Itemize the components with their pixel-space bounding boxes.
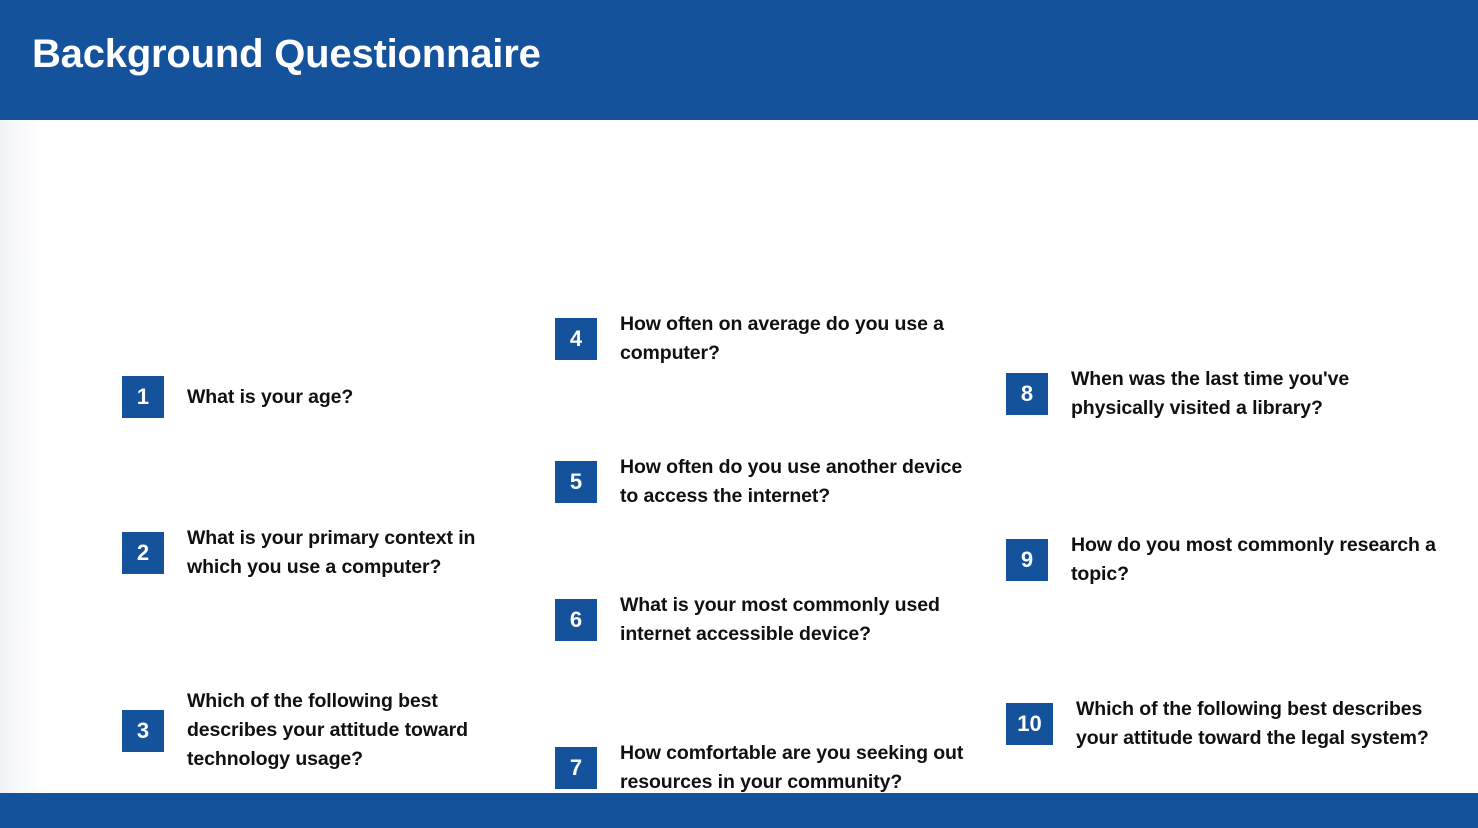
question-number-badge-9: 9 [1006, 539, 1048, 581]
question-number-badge-8: 8 [1006, 373, 1048, 415]
question-text-1: What is your age? [187, 383, 353, 412]
question-number-badge-10: 10 [1006, 703, 1053, 745]
question-number-badge-3: 3 [122, 710, 164, 752]
question-item-8[interactable]: 8 When was the last time you've physical… [1006, 365, 1436, 423]
question-number-badge-7: 7 [555, 747, 597, 789]
question-item-3[interactable]: 3 Which of the following best describes … [122, 687, 522, 774]
page-title: Background Questionnaire [32, 31, 541, 77]
footer-bar [0, 793, 1478, 828]
question-number-badge-4: 4 [555, 318, 597, 360]
header-bar: Background Questionnaire [0, 0, 1478, 120]
question-item-1[interactable]: 1 What is your age? [122, 376, 522, 418]
question-number-badge-5: 5 [555, 461, 597, 503]
question-text-5: How often do you use another device to a… [620, 453, 975, 511]
slide-background-questionnaire: Background Questionnaire 1 What is your … [0, 0, 1478, 828]
question-item-9[interactable]: 9 How do you most commonly research a to… [1006, 531, 1436, 589]
question-number-badge-1: 1 [122, 376, 164, 418]
question-item-5[interactable]: 5 How often do you use another device to… [555, 453, 975, 511]
question-item-10[interactable]: 10 Which of the following best describes… [1006, 695, 1436, 753]
question-text-10: Which of the following best describes yo… [1076, 695, 1436, 753]
question-text-9: How do you most commonly research a topi… [1071, 531, 1436, 589]
question-text-3: Which of the following best describes yo… [187, 687, 522, 774]
question-item-6[interactable]: 6 What is your most commonly used intern… [555, 591, 975, 649]
question-number-badge-6: 6 [555, 599, 597, 641]
question-text-2: What is your primary context in which yo… [187, 524, 522, 582]
slide-content-area: 1 What is your age? 2 What is your prima… [0, 120, 1478, 793]
question-item-4[interactable]: 4 How often on average do you use a comp… [555, 310, 975, 368]
question-text-7: How comfortable are you seeking out reso… [620, 739, 975, 797]
question-number-badge-2: 2 [122, 532, 164, 574]
question-text-6: What is your most commonly used internet… [620, 591, 975, 649]
question-item-2[interactable]: 2 What is your primary context in which … [122, 524, 522, 582]
question-text-4: How often on average do you use a comput… [620, 310, 975, 368]
question-text-8: When was the last time you've physically… [1071, 365, 1436, 423]
question-item-7[interactable]: 7 How comfortable are you seeking out re… [555, 739, 975, 797]
